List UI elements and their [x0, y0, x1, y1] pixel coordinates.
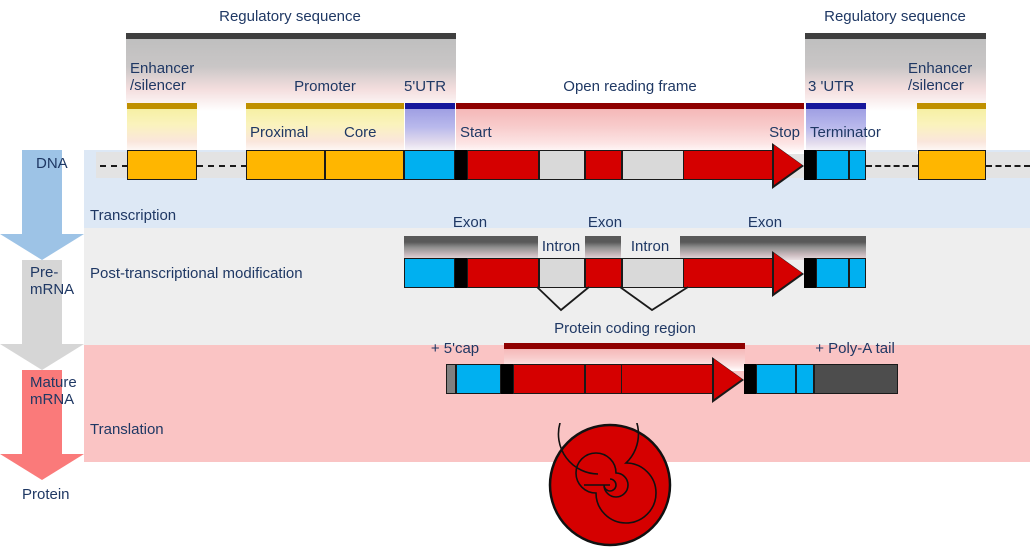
- premrna-5utr-box: [404, 258, 455, 288]
- premrna-exon3-arrow: [684, 251, 804, 295]
- premrna-intron2-box: [622, 258, 684, 288]
- dna-exon1-box: [467, 150, 539, 180]
- arrow-head: [774, 253, 802, 293]
- label-protein-coding-region: Protein coding region: [505, 320, 745, 337]
- label-5cap: + 5'cap: [405, 340, 505, 357]
- label-intron-1: Intron: [533, 238, 589, 255]
- mrna-5cap-box: [446, 364, 456, 394]
- enhancer-left-capbar: [127, 103, 197, 109]
- stage-label-dna: DNA: [36, 155, 68, 172]
- dna-intron2-box: [622, 150, 684, 180]
- label-regulatory-sequence-left: Regulatory sequence: [110, 8, 470, 25]
- utr5-capbar: [405, 103, 455, 109]
- arrow-head: [0, 454, 84, 480]
- arrow-head: [774, 145, 802, 185]
- dna-enhancer-left-box: [127, 150, 197, 180]
- regulatory-right-capbar: [805, 33, 986, 39]
- dna-terminator-box: [849, 150, 866, 180]
- dna-dash-left: [100, 165, 128, 167]
- splice-mark-intron-1: [535, 286, 591, 312]
- stage-label-mature-mrna: Mature mRNA: [30, 374, 77, 408]
- arrow-head: [714, 359, 742, 399]
- mrna-exon3-arrow: [622, 357, 744, 401]
- mrna-stop-codon-box: [744, 364, 756, 394]
- stage-label-premrna: Pre- mRNA: [30, 264, 74, 298]
- enhancer-right-capbar: [917, 103, 986, 109]
- regulatory-left-capbar: [126, 33, 456, 39]
- dna-start-codon-box: [455, 150, 467, 180]
- premrna-start-codon-box: [455, 258, 467, 288]
- label-terminator: Terminator: [810, 124, 910, 141]
- dna-exon3-arrow: [684, 143, 804, 187]
- arrow-shaft: [622, 364, 720, 394]
- dna-3utr-box: [816, 150, 849, 180]
- mrna-3utr-box: [756, 364, 796, 394]
- mrna-terminator-box: [796, 364, 814, 394]
- utr3-capbar: [806, 103, 866, 109]
- label-polya-tail: + Poly-A tail: [790, 340, 920, 357]
- label-regulatory-sequence-right: Regulatory sequence: [800, 8, 990, 25]
- premrna-stop-codon-box: [804, 258, 816, 288]
- stage-label-protein: Protein: [22, 486, 70, 503]
- dna-promoter-core-box: [325, 150, 404, 180]
- exon1-capbar: [404, 236, 538, 242]
- label-stop-codon: Stop: [720, 124, 800, 141]
- step-label-translation: Translation: [90, 420, 164, 439]
- label-intron-2: Intron: [618, 238, 682, 255]
- gene-expression-diagram: DNA Pre- mRNA Mature mRNA Protein Transc…: [0, 0, 1030, 547]
- dna-5utr-box: [404, 150, 455, 180]
- dna-dash-right2: [986, 165, 1030, 167]
- label-enhancer-silencer-right: Enhancer /silencer: [908, 60, 1028, 94]
- premrna-terminator-box: [849, 258, 866, 288]
- label-3utr: 3 'UTR: [808, 78, 888, 95]
- exon3-capbar: [680, 236, 866, 242]
- label-promoter: Promoter: [245, 78, 405, 95]
- orf-capbar: [456, 103, 804, 109]
- protein-coding-capbar: [504, 343, 745, 349]
- label-exon-1: Exon: [410, 214, 530, 231]
- arrow-shaft: [684, 150, 780, 180]
- splice-mark-intron-2: [618, 286, 690, 312]
- label-proximal: Proximal: [250, 124, 340, 141]
- arrow-head: [0, 234, 84, 260]
- protein-icon: [548, 423, 672, 547]
- mrna-exon1-box: [513, 364, 585, 394]
- dna-promoter-proximal-box: [246, 150, 325, 180]
- step-label-transcription: Transcription: [90, 206, 176, 225]
- dna-exon2-box: [585, 150, 622, 180]
- label-core: Core: [344, 124, 414, 141]
- exon2-capbar: [585, 236, 621, 242]
- label-start-codon: Start: [460, 124, 540, 141]
- premrna-exon2-box: [585, 258, 622, 288]
- dna-dash-right1: [866, 165, 918, 167]
- promoter-capbar: [246, 103, 404, 109]
- label-exon-3: Exon: [710, 214, 820, 231]
- arrow-head: [0, 344, 84, 370]
- label-exon-2: Exon: [555, 214, 655, 231]
- premrna-intron1-box: [539, 258, 585, 288]
- label-open-reading-frame: Open reading frame: [455, 78, 805, 95]
- mrna-start-codon-box: [501, 364, 513, 394]
- dna-intron1-box: [539, 150, 585, 180]
- enhancer-right-shade: [917, 109, 986, 154]
- premrna-exon1-box: [467, 258, 539, 288]
- enhancer-left-shade: [127, 109, 197, 154]
- premrna-3utr-box: [816, 258, 849, 288]
- dna-enhancer-right-box: [918, 150, 986, 180]
- step-label-post-transcriptional-modification: Post-transcriptional modification: [90, 264, 303, 283]
- arrow-shaft: [684, 258, 780, 288]
- dna-dash-mid: [197, 165, 247, 167]
- mrna-5utr-box: [456, 364, 501, 394]
- mrna-exon2-box: [585, 364, 622, 394]
- dna-stop-codon-box: [804, 150, 816, 180]
- mrna-polya-tail-box: [814, 364, 898, 394]
